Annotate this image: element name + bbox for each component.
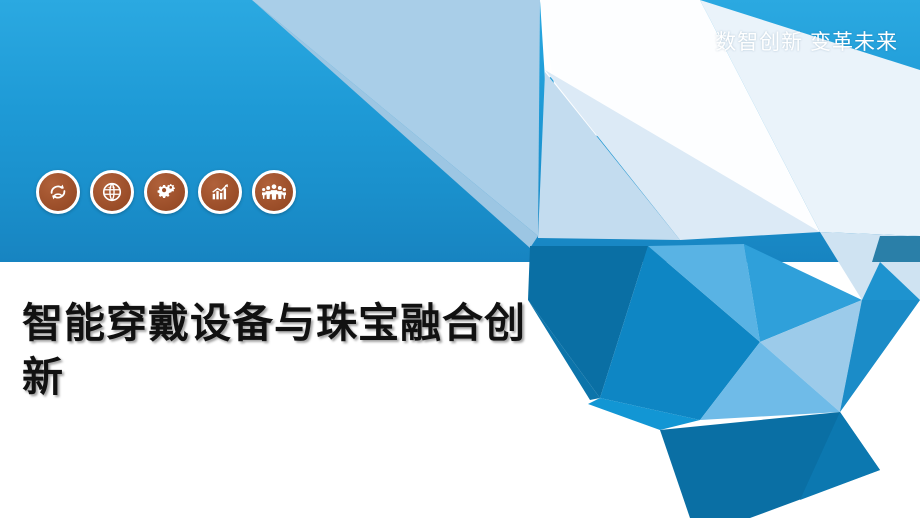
- icon-badge-globe[interactable]: [90, 170, 134, 214]
- tagline: 数智创新 变革未来: [715, 26, 898, 56]
- bar-chart-growth-icon: [209, 181, 231, 203]
- title-block: 智能穿戴设备与珠宝融合创新: [22, 296, 542, 404]
- poly-dark-top-right: [872, 236, 920, 262]
- gears-icon: [155, 181, 178, 204]
- title-slide: 数智创新 变革未来: [0, 0, 920, 518]
- icon-badge-chart[interactable]: [198, 170, 242, 214]
- globe-icon: [101, 181, 123, 203]
- recycle-arrows-icon: [47, 181, 69, 203]
- icon-badge-people[interactable]: [252, 170, 296, 214]
- icon-badge-gears[interactable]: [144, 170, 188, 214]
- polygon-background-art: [0, 0, 920, 518]
- page-title: 智能穿戴设备与珠宝融合创新: [22, 296, 542, 404]
- icon-row: [36, 170, 296, 214]
- icon-badge-recycle[interactable]: [36, 170, 80, 214]
- people-group-icon: [262, 181, 286, 203]
